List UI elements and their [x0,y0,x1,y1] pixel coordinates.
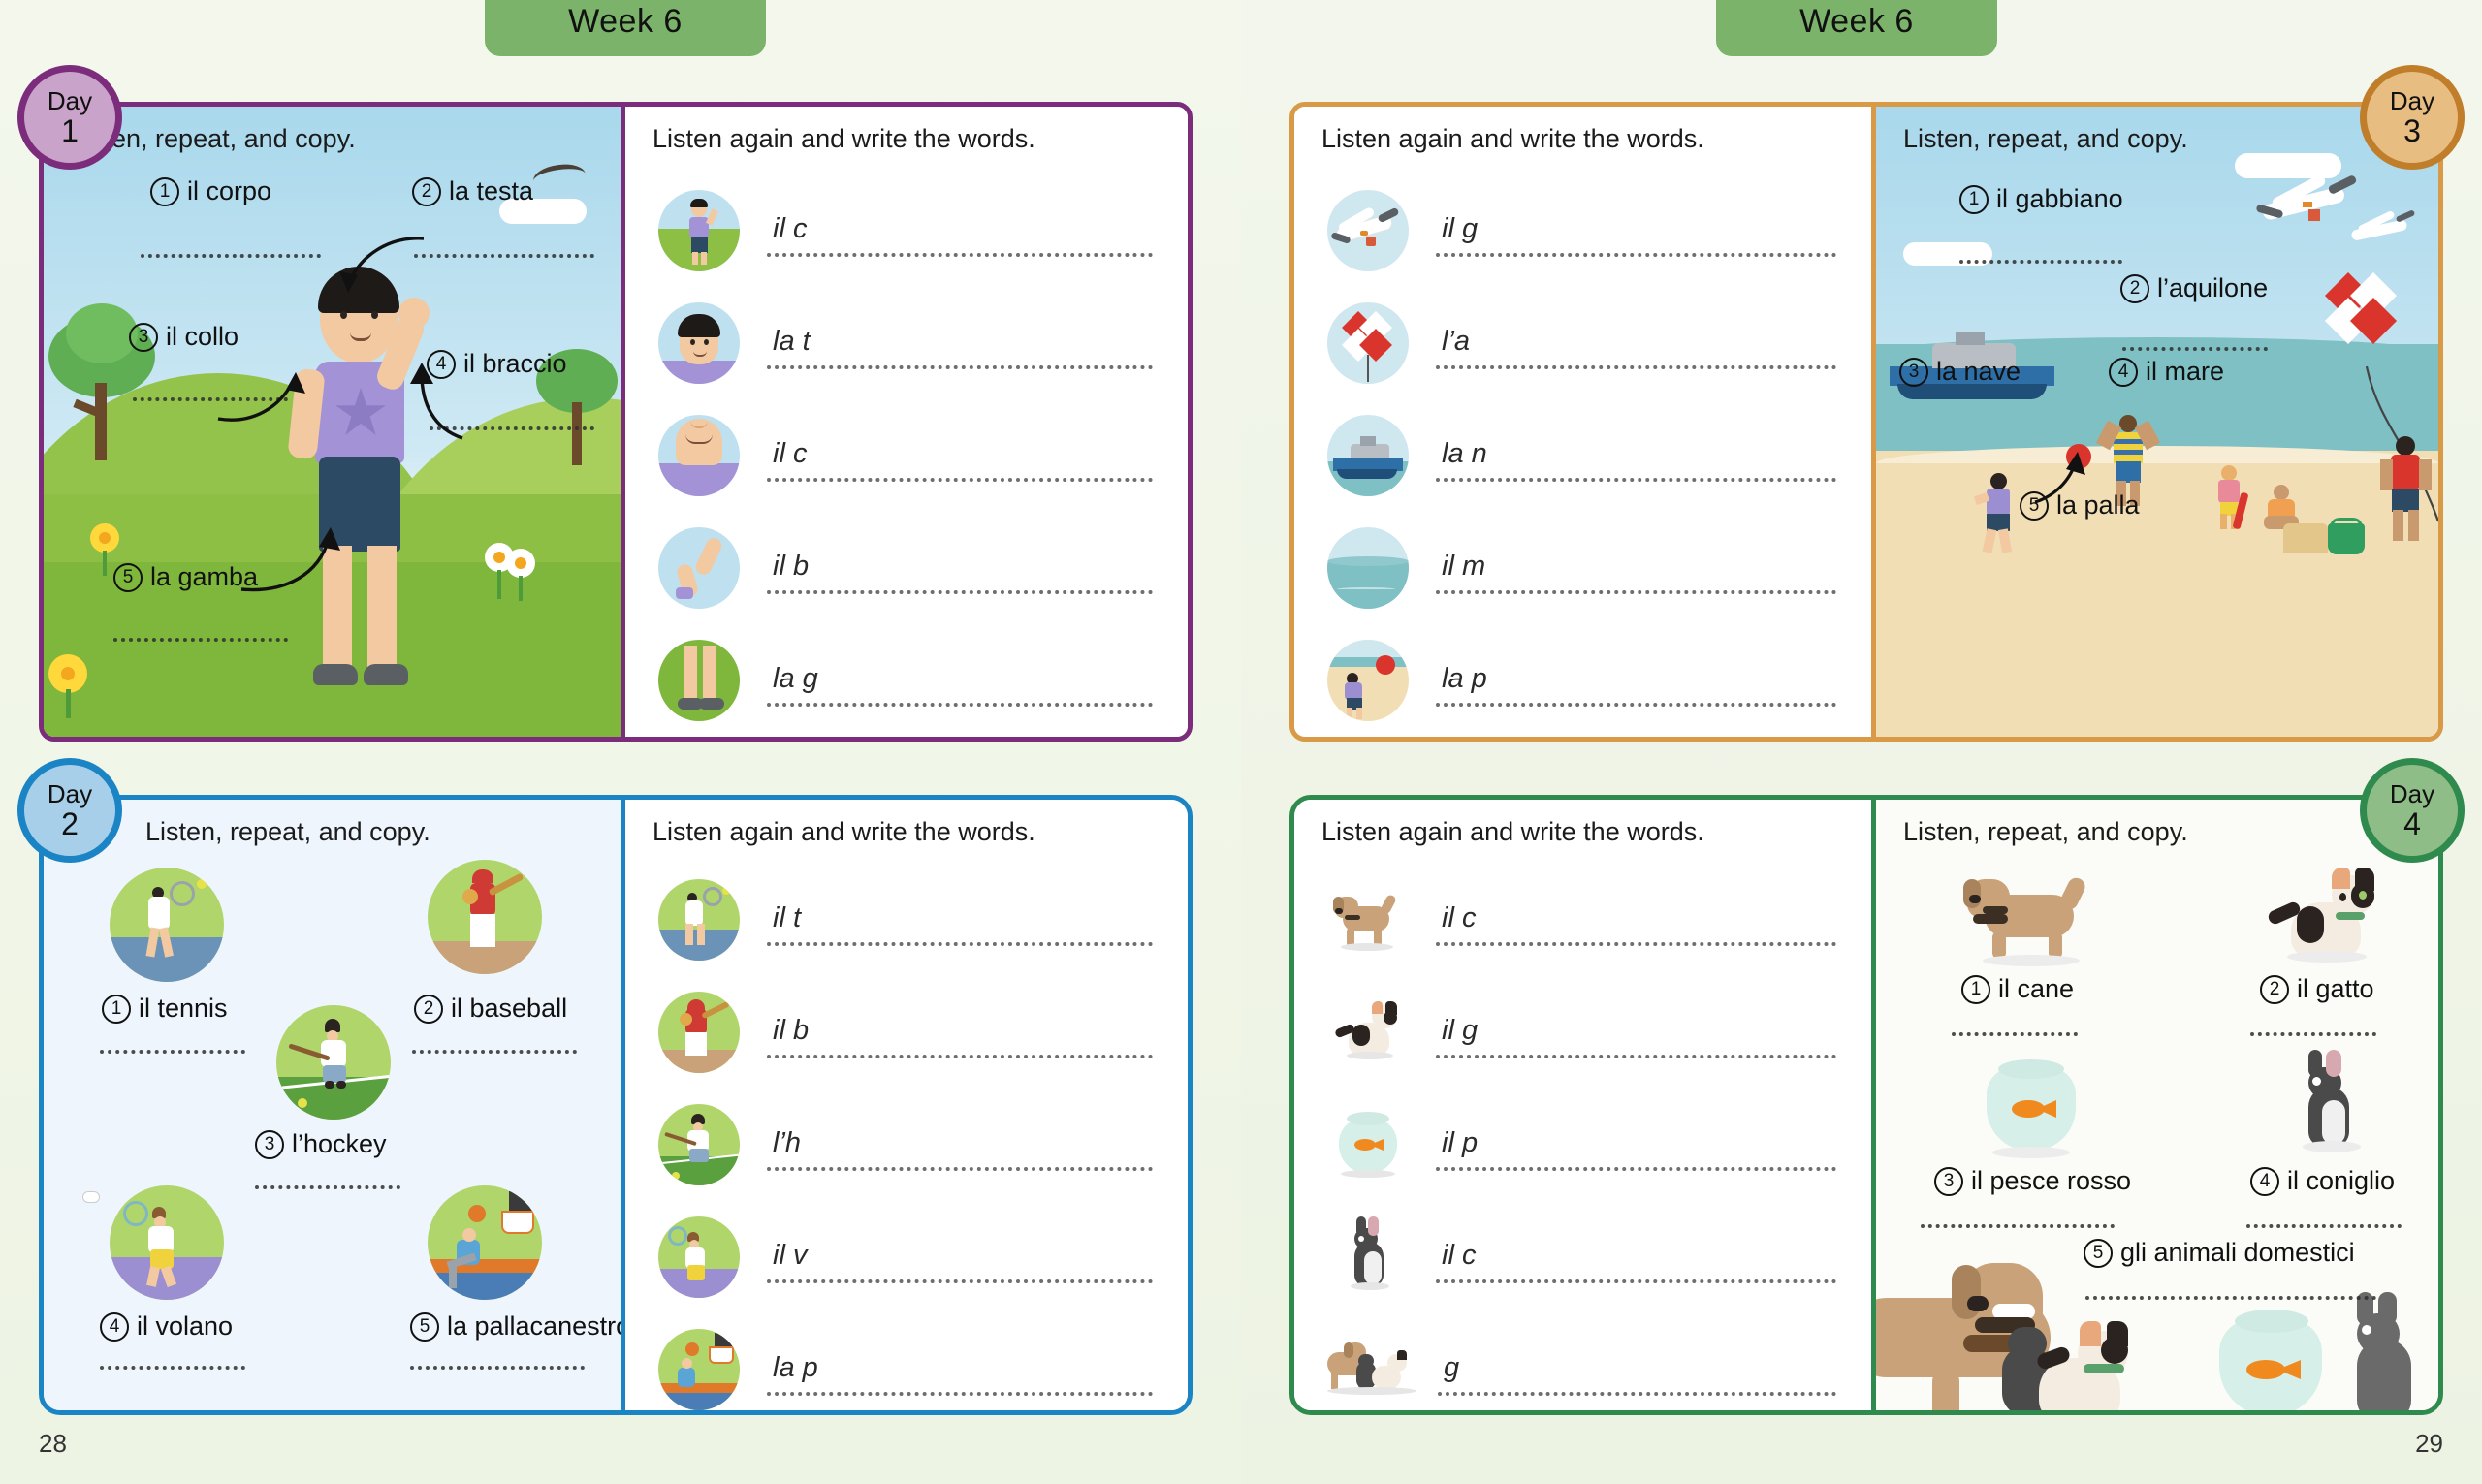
word-row: la t [658,289,1159,397]
day3-copy-prompt: Listen, repeat, and copy. [1903,124,2188,154]
word-text: la p [773,1352,818,1384]
day3-write-prompt: Listen again and write the words. [1321,124,1704,154]
word-text: g [1444,1352,1459,1384]
day1-card: Listen, repeat, and copy. 1 il corpo 2 l… [39,102,1193,742]
word-row: la g [658,626,1159,735]
day4-label-4: 4 il coniglio [2250,1166,2395,1196]
word-text: la p [1442,663,1487,695]
pointer-arrow-icon [2021,448,2109,514]
basketball-icon [658,1329,740,1410]
marker-text: il pesce rosso [1971,1166,2131,1196]
word-row: il c [1327,1203,1842,1311]
page-number-left: 28 [39,1429,67,1459]
word-row: il g [1327,978,1842,1087]
day3-label-3: 3 la nave [1899,357,2021,387]
cat-illustration [2258,860,2394,964]
marker-number: 5 [2084,1239,2113,1268]
answer-line[interactable] [1436,478,1836,482]
marker-number: 1 [150,177,179,206]
word-row: il c [658,401,1159,510]
marker-number: 3 [1934,1167,1963,1196]
day1-list-pane: Listen again and write the words. [625,107,1188,737]
baseball-icon [428,860,542,974]
day2-write-prompt: Listen again and write the words. [652,817,1035,847]
fishbowl-illustration-large [2213,1304,2328,1410]
marker-number: 2 [2120,274,2149,303]
word-row: il m [1327,514,1842,622]
word-text: il c [773,213,807,245]
day3-list-pane: Listen again and write the words. il g [1294,107,1871,737]
day1-write-prompt: Listen again and write the words. [652,124,1035,154]
marker-number: 5 [113,563,143,592]
day-badge-word: Day [48,88,92,113]
word-row: la n [1327,401,1842,510]
ball-icon [1327,640,1409,721]
day2-list-pane: Listen again and write the words. [625,800,1188,1410]
tennis-icon [658,879,740,961]
marker-text: l’aquilone [2157,273,2268,303]
answer-line[interactable] [767,703,1153,707]
day4-write-prompt: Listen again and write the words. [1321,817,1704,847]
marker-number: 2 [414,995,443,1024]
day3-art-pane: Listen, repeat, and copy. 1 il gabbiano … [1876,107,2438,737]
marker-number: 3 [129,323,158,352]
marker-text: il tennis [139,994,228,1024]
marker-number: 5 [410,1312,439,1342]
marker-number: 4 [2250,1167,2279,1196]
day3-label-4: 4 il mare [2109,357,2224,387]
word-row: il b [658,978,1159,1087]
answer-line[interactable] [1436,590,1836,594]
day4-label-3: 3 il pesce rosso [1934,1166,2131,1196]
day-badge-number: 2 [61,808,79,839]
answer-line[interactable] [767,1392,1153,1396]
answer-line[interactable] [1436,703,1836,707]
word-text: l’h [773,1127,801,1159]
marker-text: il coniglio [2287,1166,2395,1196]
workbook-spread: Week 6 [0,0,2482,1484]
hockey-icon [276,1005,391,1120]
marker-text: il baseball [451,994,567,1024]
answer-line[interactable] [1436,1167,1836,1171]
day3-label-1: 1 il gabbiano [1959,184,2123,214]
word-row: g [1327,1315,1842,1410]
neck-icon [658,415,740,496]
pointer-arrow-icon [393,349,490,446]
day4-list-pane: Listen again and write the words. [1294,800,1871,1410]
legs-icon [658,640,740,721]
marker-text: la pallacanestro [447,1311,620,1342]
marker-number: 3 [255,1130,284,1159]
basketball-icon [428,1185,542,1300]
dog-icon [1327,879,1409,961]
badminton-icon [110,1185,224,1300]
answer-line[interactable] [767,1055,1153,1058]
marker-number: 2 [2260,975,2289,1004]
day3-label-2: 2 l’aquilone [2120,273,2268,303]
sandcastle-icon [2283,523,2328,553]
pointer-arrow-icon [214,368,321,434]
word-text: il c [1442,902,1476,934]
week-tab-left: Week 6 [485,0,766,56]
word-text: il m [1442,551,1485,583]
marker-text: il volano [137,1311,233,1342]
day2-label-3: 3 l’hockey [255,1129,387,1159]
word-row: l’a [1327,289,1842,397]
answer-line[interactable] [767,478,1153,482]
word-text: il c [1442,1240,1476,1272]
day2-label-4: 4 il volano [100,1311,233,1342]
day2-label-5: 5 la pallacanestro [410,1311,620,1342]
dog-illustration [1956,864,2101,963]
day4-label-1: 1 il cane [1961,974,2074,1004]
answer-line[interactable] [1436,1279,1836,1283]
answer-line[interactable] [1436,365,1836,369]
cloud-icon [2235,153,2341,178]
answer-line[interactable] [1438,1392,1836,1396]
answer-line[interactable] [767,1167,1153,1171]
marker-number: 2 [412,177,441,206]
rabbit-illustration-large [2332,1292,2438,1410]
pointer-arrow-icon [315,231,431,299]
answer-line[interactable] [767,1279,1153,1283]
day1-art-pane: Listen, repeat, and copy. 1 il corpo 2 l… [44,107,620,737]
left-page: Week 6 [0,0,1241,1484]
day2-label-2: 2 il baseball [414,994,567,1024]
fishbowl-icon [1327,1104,1409,1185]
day1-label-3: 3 il collo [129,322,239,352]
word-text: la g [773,663,818,695]
marker-text: il collo [166,322,239,352]
word-text: il p [1442,1127,1478,1159]
answer-line[interactable] [1436,253,1836,257]
word-text: il c [773,438,807,470]
answer-line[interactable] [1436,942,1836,946]
day-badge-number: 1 [61,115,79,146]
seagull-icon [2347,211,2419,248]
marker-text: la testa [449,176,533,206]
word-text: la t [773,326,811,358]
day-badge-number: 4 [2403,808,2421,839]
boy-waving-icon [658,190,740,271]
word-row: il p [1327,1090,1842,1199]
word-row: il v [658,1203,1159,1311]
day3-card: Listen again and write the words. il g [1289,102,2443,742]
seagull-icon [1327,190,1409,271]
marker-number: 1 [1961,975,1990,1004]
day1-badge: Day 1 [17,65,122,170]
answer-line[interactable] [767,942,1153,946]
tennis-icon [110,868,224,982]
word-text: il b [773,1015,809,1047]
word-text: il t [773,902,801,934]
rabbit-icon [1327,1216,1409,1298]
word-text: l’a [1442,326,1470,358]
marker-number: 4 [2109,358,2138,387]
kite-icon [2332,279,2403,368]
day1-label-5: 5 la gamba [113,562,258,592]
week-tab-left-label: Week 6 [568,3,683,41]
word-row: la p [658,1315,1159,1410]
ship-icon [1327,415,1409,496]
marker-number: 1 [102,995,131,1024]
rabbit-illustration [2283,1050,2371,1158]
pointer-arrow-icon [238,514,364,601]
word-row: la p [1327,626,1842,735]
day4-copy-prompt: Listen, repeat, and copy. [1903,817,2188,847]
head-icon [658,302,740,384]
day4-label-5: 5 gli animali domestici [2084,1238,2355,1268]
marker-text: gli animali domestici [2120,1238,2355,1268]
week-tab-right: Week 6 [1716,0,1997,56]
day-badge-word: Day [48,781,92,806]
marker-text: il mare [2146,357,2224,387]
badminton-icon [658,1216,740,1298]
word-text: il v [773,1240,807,1272]
answer-line[interactable] [767,590,1153,594]
marker-text: il gatto [2297,974,2374,1004]
day4-art-pane: Listen, repeat, and copy. [1876,800,2438,1410]
word-text: il g [1442,213,1478,245]
word-row: l’h [658,1090,1159,1199]
right-page: Week 6 Listen again and write the words. [1241,0,2482,1484]
week-tab-right-label: Week 6 [1799,3,1914,41]
marker-text: il gabbiano [1996,184,2123,214]
day-badge-word: Day [2390,781,2434,806]
baseball-icon [658,992,740,1073]
marker-text: la nave [1936,357,2021,387]
word-text: il b [773,551,809,583]
day1-label-1: 1 il corpo [150,176,271,206]
word-text: il g [1442,1015,1478,1047]
pets-group-illustration [1876,1253,2264,1410]
day-badge-word: Day [2390,88,2434,113]
sea-icon [1327,527,1409,609]
bucket-icon [2328,518,2365,554]
marker-number: 1 [1959,185,1989,214]
word-row: il b [658,514,1159,622]
day3-badge: Day 3 [2360,65,2465,170]
word-row: il c [1327,866,1842,974]
hockey-icon [658,1104,740,1185]
arm-icon [658,527,740,609]
answer-line[interactable] [1436,1055,1836,1058]
answer-line[interactable] [767,365,1153,369]
marker-text: il corpo [187,176,271,206]
page-number-right: 29 [2415,1429,2443,1459]
pets-group-icon [1327,1329,1434,1410]
beach-boy-right-icon [2380,436,2431,543]
day2-art-pane: Listen, repeat, and copy. 1 il tennis [44,800,620,1410]
word-row: il g [1327,176,1842,285]
day2-label-1: 1 il tennis [102,994,228,1024]
cat-icon [1327,992,1409,1073]
fishbowl-illustration [1981,1054,2087,1158]
marker-number: 4 [100,1312,129,1342]
beach-boy-running-icon [1975,473,2021,554]
day2-card: Listen, repeat, and copy. 1 il tennis [39,795,1193,1415]
day2-badge: Day 2 [17,758,122,863]
marker-number: 3 [1899,358,1928,387]
answer-line[interactable] [767,253,1153,257]
day4-label-2: 2 il gatto [2260,974,2374,1004]
day2-copy-prompt: Listen, repeat, and copy. [145,817,430,847]
kite-icon [1327,302,1409,384]
day1-label-2: 2 la testa [412,176,533,206]
day4-badge: Day 4 [2360,758,2465,863]
marker-text: l’hockey [292,1129,387,1159]
word-row: il c [658,176,1159,285]
day-badge-number: 3 [2403,115,2421,146]
word-text: la n [1442,438,1487,470]
day4-card: Listen again and write the words. [1289,795,2443,1415]
word-row: il t [658,866,1159,974]
marker-text: il cane [1998,974,2074,1004]
boy-illustration [267,257,451,712]
